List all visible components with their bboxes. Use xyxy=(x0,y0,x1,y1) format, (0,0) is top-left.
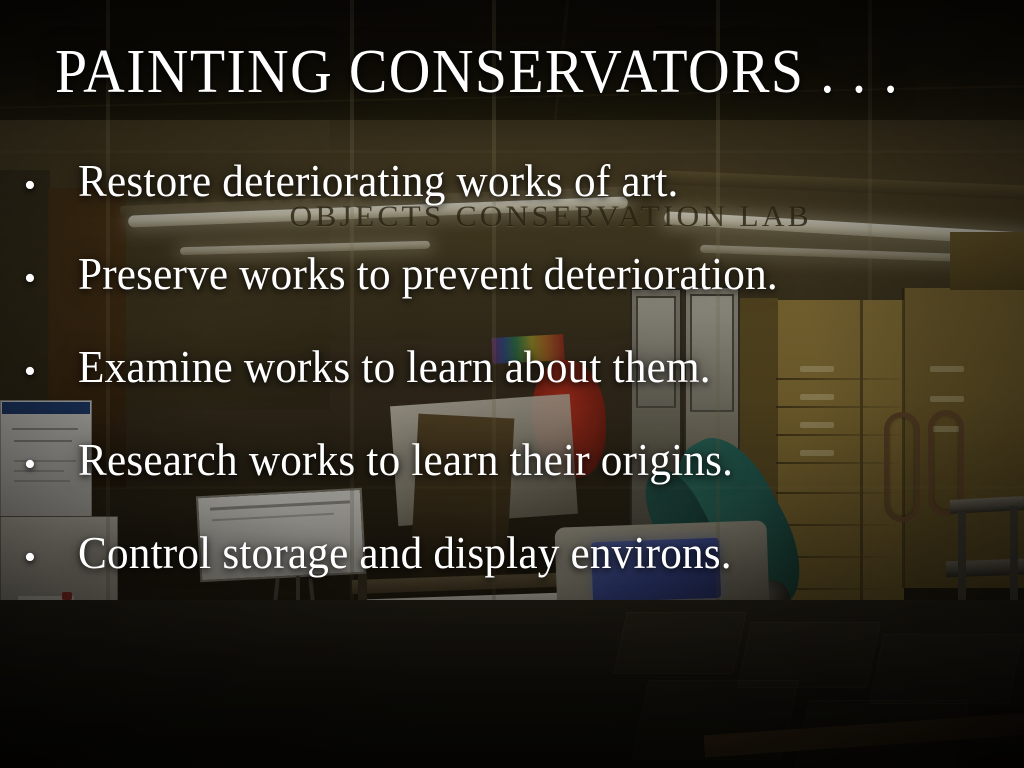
bullet-marker-icon: • xyxy=(18,448,78,482)
list-item: • Preserve works to prevent deterioratio… xyxy=(18,251,1018,344)
page-title: PAINTING CONSERVATORS . . . xyxy=(55,41,939,104)
bullet-text: Restore deteriorating works of art. xyxy=(78,158,679,205)
list-item: • Research works to learn their origins. xyxy=(18,437,1018,530)
bullet-text: Control storage and display environs. xyxy=(78,530,732,577)
bullet-marker-icon: • xyxy=(18,541,78,575)
presentation-slide: OBJECTS CONSERVATION LAB xyxy=(0,0,1024,768)
slide-content: PAINTING CONSERVATORS . . . • Restore de… xyxy=(0,0,1024,768)
list-item: • Restore deteriorating works of art. xyxy=(18,158,1018,251)
bullet-text: Preserve works to prevent deterioration. xyxy=(78,251,778,298)
bullet-marker-icon: • xyxy=(18,355,78,389)
list-item: • Examine works to learn about them. xyxy=(18,344,1018,437)
bullet-marker-icon: • xyxy=(18,169,78,203)
bullet-text: Examine works to learn about them. xyxy=(78,344,711,391)
bullet-list: • Restore deteriorating works of art. • … xyxy=(18,158,1018,623)
list-item: • Control storage and display environs. xyxy=(18,530,1018,623)
bullet-marker-icon: • xyxy=(18,262,78,296)
bullet-text: Research works to learn their origins. xyxy=(78,437,733,484)
